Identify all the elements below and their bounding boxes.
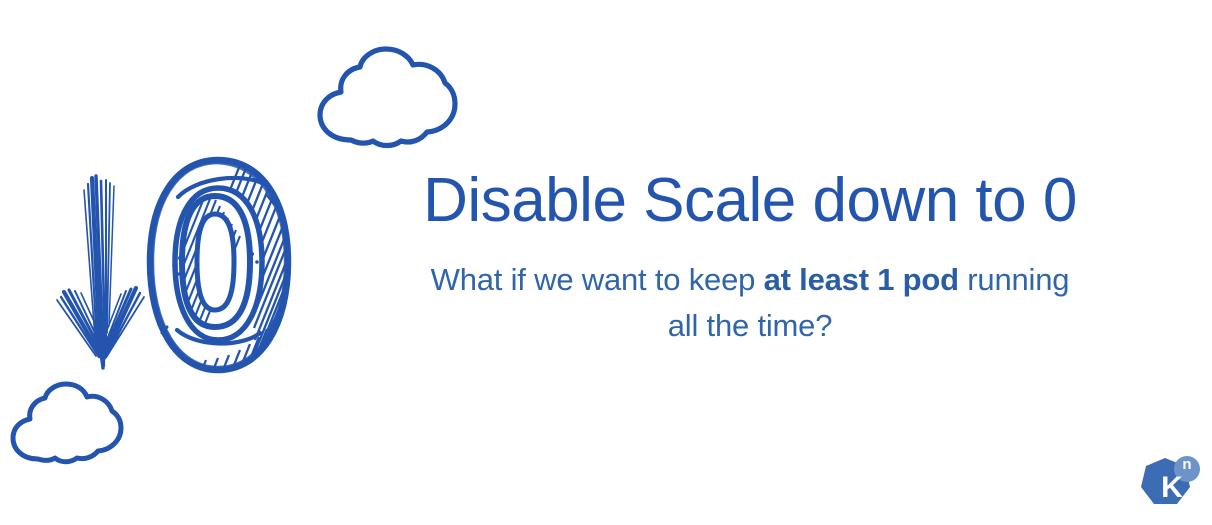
- subtitle-emphasis: at least 1 pod: [764, 262, 959, 297]
- logo-letter-n: n: [1174, 457, 1200, 472]
- page-title: Disable Scale down to 0: [330, 168, 1170, 235]
- cloud-outline-bottom-icon: [13, 384, 121, 462]
- kubernetes-n-logo: K n: [1133, 448, 1205, 520]
- logo-letter-k: K: [1152, 473, 1192, 503]
- subtitle-line1-before: What if we want to keep: [431, 262, 764, 297]
- cloud-outline-top-icon: [320, 49, 455, 146]
- page-subtitle: What if we want to keep at least 1 pod r…: [330, 257, 1170, 350]
- text-block: Disable Scale down to 0 What if we want …: [330, 168, 1170, 350]
- subtitle-line1-after: running: [959, 262, 1069, 297]
- hand-drawn-zero-icon: [131, 150, 295, 461]
- subtitle-line2: all the time?: [668, 308, 833, 343]
- down-arrow-sketch-icon: [57, 176, 144, 368]
- slide-canvas: Disable Scale down to 0 What if we want …: [0, 0, 1212, 525]
